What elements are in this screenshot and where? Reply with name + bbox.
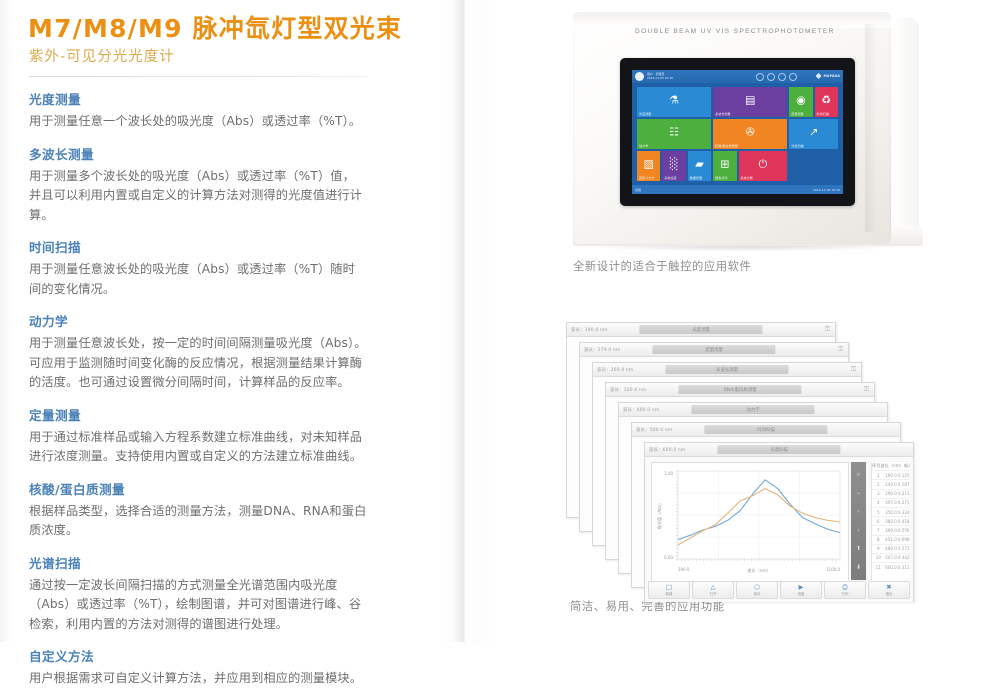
feature-heading: 光谱扫描 — [29, 555, 428, 573]
feature-heading: 定量测量 — [29, 407, 428, 425]
screen-bottom-left: 就绪 — [635, 188, 641, 192]
folder-icon: ▰ — [695, 158, 703, 169]
window-bottom-toolbar[interactable]: □新建△打开⬡保存▶测量⎙打印✖退出 — [648, 581, 910, 599]
table-cell: 0.125 — [897, 473, 910, 478]
tile-label: 自定义方法 — [639, 176, 655, 180]
feature-heading: 时间扫描 — [29, 239, 428, 257]
tile-label: 光度测量 — [639, 112, 651, 116]
table-row[interactable]: 4307.00.271 — [872, 498, 910, 507]
table-row[interactable]: 6380.00.418 — [872, 516, 910, 525]
measurement-table[interactable]: 序号波长（nm）吸光度1190.00.1252240.00.1873290.00… — [871, 462, 910, 580]
chevron-down-icon[interactable]: ⌄ — [856, 489, 861, 496]
table-column-header: 吸光度 — [904, 463, 910, 469]
screen-tile[interactable]: ✇核酸/蛋白质测量 — [713, 119, 787, 149]
tile-label: 核酸/蛋白质测量 — [715, 144, 738, 148]
window-title: 时间扫描 — [704, 425, 827, 434]
table-cell: 0.187 — [897, 482, 910, 487]
window-titlebar[interactable]: 波长：190.0 nm光度测量⚿ — [567, 323, 835, 337]
feature-heading: 多波长测量 — [29, 146, 428, 164]
table-cell: 5 — [872, 510, 885, 515]
toolbar-button-label: 打印 — [842, 591, 849, 596]
svg-text:190.0: 190.0 — [678, 567, 690, 572]
screen-tile[interactable]: ⏻系统诊断 — [739, 151, 788, 181]
table-row[interactable]: 10507.00.442 — [872, 553, 910, 562]
lock-icon[interactable]: ⚿ — [837, 345, 844, 353]
window-wavelength-label: 波长：400.0 nm — [623, 407, 659, 413]
lock-icon[interactable]: ⚿ — [863, 385, 870, 393]
toolbar-button-label: 新建 — [666, 591, 673, 596]
table-row[interactable]: 7399.00.556 — [872, 525, 910, 534]
table-cell: 0.334 — [897, 510, 910, 515]
window-title: 多波长测量 — [665, 365, 788, 374]
tile-label: 系统诊断 — [741, 176, 753, 180]
table-cell: 307.0 — [885, 500, 898, 505]
svg-text:0.00: 0.00 — [664, 555, 673, 560]
tile-label: 数据管理 — [690, 176, 702, 180]
screen-tile[interactable]: ▤多波长测量 — [713, 87, 787, 117]
table-cell: 451.0 — [885, 537, 898, 542]
toolbar-button[interactable]: ▶测量 — [780, 581, 822, 599]
table-cell: 380.0 — [885, 519, 898, 524]
instrument-top-bevel — [573, 12, 891, 28]
flask-icon: ⚗ — [669, 94, 679, 105]
instrument-photo: DOUBLE BEAM UV VIS SPECTROPHOTOMETER 用户：… — [573, 12, 963, 250]
tile-grid[interactable]: ⚗光度测量▤多波长测量◉定量测量♻时间扫描☷动力学✇核酸/蛋白质测量↗光谱扫描▧… — [632, 83, 843, 185]
screen-window-icons[interactable] — [756, 73, 797, 81]
feature-body: 用于测量任意波长处的吸光度（Abs）或透过率（%T）随时间的变化情况。 — [29, 260, 367, 299]
table-cell: 240.0 — [885, 482, 898, 487]
screen-brand: MAPADA — [816, 73, 840, 79]
svg-text:波长（nm）: 波长（nm） — [747, 567, 770, 574]
table-column-header: 序号 — [872, 463, 880, 469]
screen-tile[interactable]: ◉定量测量 — [789, 87, 812, 117]
screen-status-sub: 2019-11-05 10:36 — [647, 77, 673, 81]
tile-label: 时间扫描 — [817, 112, 829, 116]
software-window[interactable]: 波长：600.0 nm光谱扫描1.000.00190.0波长（nm）1100.0… — [644, 442, 914, 602]
feature-section: 光谱扫描通过按一定波长间隔扫描的方式测量全光谱范围内吸光度（Abs）或透过率（%… — [29, 555, 428, 635]
table-cell: 600.0 — [885, 565, 898, 570]
dna-icon: ✇ — [746, 126, 755, 137]
window-titlebar[interactable]: 波长：320.0 nmDNA/蛋白质测量⚿ — [606, 383, 874, 397]
tile-label: 动力学 — [639, 144, 648, 148]
pencil-icon[interactable] — [756, 73, 764, 81]
toolbar-button[interactable]: ⬡保存 — [736, 581, 778, 599]
screen-bezel: 用户：管理员 2019-11-05 10:36 MAPADA — [620, 58, 855, 206]
feature-heading: 自定义方法 — [29, 648, 428, 666]
tile-label: 光谱扫描 — [791, 144, 803, 148]
window-titlebar[interactable]: 波长：279.0 nm定量测量⚿ — [580, 343, 848, 357]
toolbar-button[interactable]: △打开 — [692, 581, 734, 599]
table-cell: 6 — [872, 519, 885, 524]
curve-icon: ↗ — [809, 126, 818, 137]
table-cell: 507.0 — [885, 555, 898, 560]
svg-text:1.00: 1.00 — [664, 471, 673, 476]
toolbar-button-label: 打开 — [710, 591, 717, 596]
droplet-icon: ◉ — [796, 94, 806, 105]
table-cell: 4 — [872, 500, 885, 505]
window-titlebar[interactable]: 波长：400.0 nm动力学 — [619, 403, 887, 417]
square-icon[interactable] — [778, 73, 786, 81]
notebook-icon: ▧ — [643, 158, 653, 169]
table-row[interactable]: 5350.00.334 — [872, 507, 910, 516]
window-titlebar[interactable]: 波长：600.0 nm光谱扫描 — [645, 443, 913, 457]
feature-body: 用户根据需求可自定义计算方法，并应用到相应的测量模块。 — [29, 669, 367, 689]
feature-heading: 核酸/蛋白质测量 — [29, 481, 428, 499]
table-cell: 0.311 — [897, 565, 910, 570]
table-row[interactable]: 3290.00.213 — [872, 489, 910, 498]
zoom-in-icon[interactable]: ⌕ — [857, 471, 860, 478]
valley-icon[interactable]: ⬇ — [856, 564, 861, 571]
table-row[interactable]: 1190.00.125 — [872, 470, 910, 479]
table-column-header: 波长（nm） — [880, 463, 903, 469]
window-wavelength-label: 波长：600.0 nm — [649, 447, 685, 453]
table-cell: 3 — [872, 491, 885, 496]
toolbar-button[interactable]: ✖退出 — [868, 581, 910, 599]
chart-bar-icon: ☷ — [669, 126, 679, 137]
table-cell: 10 — [872, 555, 885, 560]
table-row[interactable]: 9480.00.571 — [872, 544, 910, 553]
table-row[interactable]: 2240.00.187 — [872, 479, 910, 488]
lock-icon[interactable]: ⚿ — [824, 325, 831, 333]
table-cell: 2 — [872, 482, 885, 487]
window-titlebar[interactable]: 波长：500.0 nm时间扫描 — [632, 423, 900, 437]
screen-tile[interactable]: ▧自定义方法 — [637, 151, 660, 181]
user-avatar-icon[interactable] — [635, 72, 644, 81]
title-divider — [29, 76, 367, 77]
window-wavelength-label: 波长：320.0 nm — [610, 387, 646, 393]
brand-logo-icon — [816, 73, 822, 79]
table-cell: 0.213 — [897, 491, 910, 496]
table-cell: 0.271 — [897, 500, 910, 505]
toolbar-button[interactable]: □新建 — [648, 581, 690, 599]
window-title: 光谱扫描 — [717, 445, 840, 454]
table-cell: 0.571 — [897, 546, 910, 551]
table-row[interactable]: 8451.00.698 — [872, 535, 910, 544]
open-icon: △ — [711, 584, 716, 591]
screen-tile[interactable]: ♻时间扫描 — [815, 87, 838, 117]
chevron-left-icon[interactable]: ‹ — [857, 508, 859, 515]
window-title: DNA/蛋白质测量 — [678, 385, 801, 394]
chevron-right-icon[interactable]: › — [857, 527, 859, 534]
grid-icon: ░ — [670, 158, 678, 169]
page-subtitle: 紫外-可见分光光度计 — [29, 47, 428, 67]
toolbar-button-label: 保存 — [754, 591, 761, 596]
tile-label: 系统设置 — [664, 176, 676, 180]
screen-tile[interactable]: ▰数据管理 — [688, 151, 711, 181]
window-title: 光度测量 — [639, 325, 762, 334]
toolbar-button-label: 测量 — [798, 591, 805, 596]
tile-label: 多波长测量 — [715, 112, 731, 116]
touchscreen[interactable]: 用户：管理员 2019-11-05 10:36 MAPADA — [632, 70, 843, 194]
left-text-column: M7/M8/M9 脉冲氙灯型双光束 紫外-可见分光光度计 光度测量用于测量任意一… — [28, 0, 428, 642]
power-icon: ⏻ — [759, 158, 768, 169]
cabinet-icon: ▤ — [745, 94, 755, 105]
print-icon: ⎙ — [842, 584, 847, 591]
table-cell: 1 — [872, 473, 885, 478]
feature-section: 时间扫描用于测量任意波长处的吸光度（Abs）或透过率（%T）随时间的变化情况。 — [29, 239, 428, 299]
instrument-seam — [865, 24, 877, 232]
window-wavelength-label: 波长：190.0 nm — [571, 327, 607, 333]
spectrum-chart[interactable]: 1.000.00190.0波长（nm）1100.0吸光度（Abs） — [651, 462, 849, 582]
table-cell: 9 — [872, 546, 885, 551]
window-title: 定量测量 — [652, 345, 775, 354]
window-wavelength-label: 波长：500.0 nm — [636, 427, 672, 433]
front-window-body: 1.000.00190.0波长（nm）1100.0吸光度（Abs）⌕⌄‹›⬆⬇序… — [645, 457, 913, 602]
feature-section: 多波长测量用于测量多个波长处的吸光度（Abs）或透过率（%T）值，并且可以利用内… — [29, 146, 428, 226]
instrument-brand-text: DOUBLE BEAM UV VIS SPECTROPHOTOMETER — [635, 28, 855, 35]
table-cell: 480.0 — [885, 546, 898, 551]
table-cell: 0.442 — [897, 555, 910, 560]
page-root: M7/M8/M9 脉冲氙灯型双光束 紫外-可见分光光度计 光度测量用于测量任意一… — [0, 0, 990, 642]
tile-label: 定量测量 — [791, 112, 803, 116]
screen-tile[interactable]: ⚗光度测量 — [637, 87, 711, 117]
save-icon: ⬡ — [754, 584, 760, 591]
window-wavelength-label: 波长：279.0 nm — [584, 347, 620, 353]
table-row[interactable]: 11600.00.311 — [872, 562, 910, 571]
toolbar-button-label: 退出 — [886, 591, 893, 596]
page-title: M7/M8/M9 脉冲氙灯型双光束 — [28, 14, 428, 44]
feature-heading: 动力学 — [29, 313, 428, 331]
instrument-caption: 全新设计的适合于触控的应用软件 — [573, 258, 751, 274]
feature-body: 用于测量任意一个波长处的吸光度（Abs）或透过率（%T）。 — [29, 112, 367, 132]
feature-section: 定量测量用于通过标准样品或输入方程系数建立标准曲线，对未知样品进行浓度测量。支持… — [29, 407, 428, 467]
software-window-stack: 波长：190.0 nm光度测量⚿波长：279.0 nm定量测量⚿波长：260.0… — [566, 322, 986, 592]
svg-text:1100.0: 1100.0 — [826, 567, 840, 572]
feature-section: 光度测量用于测量任意一个波长处的吸光度（Abs）或透过率（%T）。 — [29, 91, 428, 132]
screen-tile[interactable]: ⊞报告打印 — [713, 151, 736, 181]
feature-body: 用于通过标准样品或输入方程系数建立标准曲线，对未知样品进行浓度测量。支持使用内置… — [29, 428, 367, 467]
table-cell: 0.698 — [897, 537, 910, 542]
svg-text:吸光度（Abs）: 吸光度（Abs） — [656, 501, 663, 530]
table-cell: 190.0 — [885, 473, 898, 478]
minus-icon[interactable] — [767, 73, 775, 81]
feature-section: 核酸/蛋白质测量根据样品类型，选择合适的测量方法，测量DNA、RNA和蛋白质浓度… — [29, 481, 428, 541]
screen-statusbar: 用户：管理员 2019-11-05 10:36 MAPADA — [632, 70, 843, 83]
feature-body: 根据样品类型，选择合适的测量方法，测量DNA、RNA和蛋白质浓度。 — [29, 502, 367, 541]
table-cell: 8 — [872, 537, 885, 542]
recycle-icon: ♻ — [821, 94, 831, 105]
table-header-row: 序号波长（nm）吸光度 — [872, 462, 910, 470]
feature-section-list: 光度测量用于测量任意一个波长处的吸光度（Abs）或透过率（%T）。多波长测量用于… — [28, 91, 428, 689]
feature-section: 自定义方法用户根据需求可自定义计算方法，并应用到相应的测量模块。 — [29, 648, 428, 689]
tile-label: 报告打印 — [715, 176, 727, 180]
window-title: 动力学 — [691, 405, 814, 414]
screen-bottom-bar: 就绪 2019-11-05 10:36 — [632, 185, 843, 194]
feature-heading: 光度测量 — [29, 91, 428, 109]
table-cell: 11 — [872, 565, 885, 570]
play-icon: ▶ — [799, 584, 804, 591]
window-wavelength-label: 波长：260.0 nm — [597, 367, 633, 373]
feature-section: 动力学用于测量任意波长处，按一定的时间间隔测量吸光度（Abs）。可应用于监测随时… — [29, 313, 428, 393]
table-icon: ⊞ — [720, 158, 729, 169]
table-cell: 399.0 — [885, 528, 898, 533]
toolbar-button[interactable]: ⎙打印 — [824, 581, 866, 599]
screen-status-texts: 用户：管理员 2019-11-05 10:36 — [644, 73, 673, 80]
table-cell: 0.556 — [897, 528, 910, 533]
chart-side-toolbar[interactable]: ⌕⌄‹›⬆⬇ — [851, 462, 866, 580]
lock-icon[interactable]: ⚿ — [850, 365, 857, 373]
screen-bottom-right: 2019-11-05 10:36 — [813, 188, 840, 192]
screen-tile[interactable]: ☷动力学 — [637, 119, 711, 149]
peak-icon[interactable]: ⬆ — [856, 545, 861, 552]
feature-body: 用于测量多个波长处的吸光度（Abs）或透过率（%T）值，并且可以利用内置或自定义… — [29, 167, 367, 226]
table-cell: 0.418 — [897, 519, 910, 524]
window-titlebar[interactable]: 波长：260.0 nm多波长测量⚿ — [593, 363, 861, 377]
screen-tile[interactable]: ↗光谱扫描 — [789, 119, 838, 149]
table-cell: 7 — [872, 528, 885, 533]
table-cell: 350.0 — [885, 510, 898, 515]
new-icon: □ — [666, 584, 672, 591]
screen-tile[interactable]: ░系统设置 — [662, 151, 685, 181]
close-icon[interactable] — [789, 73, 797, 81]
instrument-front-housing: DOUBLE BEAM UV VIS SPECTROPHOTOMETER 用户：… — [573, 12, 891, 244]
brand-name: MAPADA — [824, 74, 840, 78]
feature-body: 用于测量任意波长处，按一定的时间间隔测量吸光度（Abs）。可应用于监测随时间变化… — [29, 334, 367, 393]
table-cell: 290.0 — [885, 491, 898, 496]
exit-icon: ✖ — [886, 584, 891, 591]
feature-body: 通过按一定波长间隔扫描的方式测量全光谱范围内吸光度（Abs）或透过率（%T），绘… — [29, 576, 367, 635]
